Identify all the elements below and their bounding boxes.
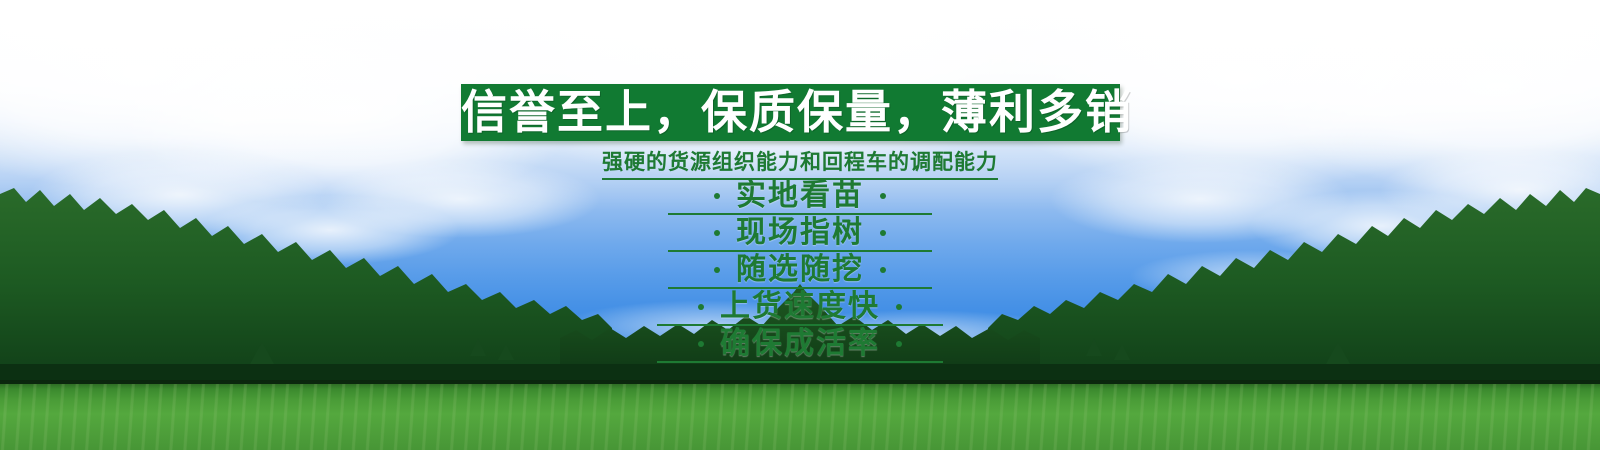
- feature-item: 实地看苗: [668, 178, 932, 215]
- feature-label: 随选随挖: [720, 253, 880, 287]
- feature-label: 上货速度快: [704, 290, 896, 324]
- bullet-dot-icon: [880, 267, 886, 273]
- bullet-dot-icon: [896, 341, 902, 347]
- feature-item: 确保成活率: [657, 326, 943, 363]
- subheadline: 强硬的货源组织能力和回程车的调配能力: [0, 146, 1600, 180]
- feature-label: 确保成活率: [704, 327, 896, 361]
- feature-label: 现场指树: [720, 216, 880, 250]
- headline-text: 信誉至上，保质保量，薄利多销: [461, 84, 1120, 141]
- subheadline-text: 强硬的货源组织能力和回程车的调配能力: [602, 146, 998, 180]
- promo-banner: 信誉至上，保质保量，薄利多销 强硬的货源组织能力和回程车的调配能力 实地看苗 现…: [0, 0, 1600, 450]
- feature-item: 上货速度快: [657, 289, 943, 326]
- feature-label: 实地看苗: [720, 179, 880, 213]
- feature-item: 现场指树: [668, 215, 932, 252]
- feature-item: 随选随挖: [668, 252, 932, 289]
- banner-content: 信誉至上，保质保量，薄利多销 强硬的货源组织能力和回程车的调配能力 实地看苗 现…: [0, 0, 1600, 450]
- bullet-dot-icon: [880, 230, 886, 236]
- bullet-dot-icon: [896, 304, 902, 310]
- bullet-dot-icon: [880, 193, 886, 199]
- headline-banner-bar: 信誉至上，保质保量，薄利多销: [461, 84, 1120, 141]
- feature-list: 实地看苗 现场指树 随选随挖 上货速度快 确保成活率: [0, 178, 1600, 363]
